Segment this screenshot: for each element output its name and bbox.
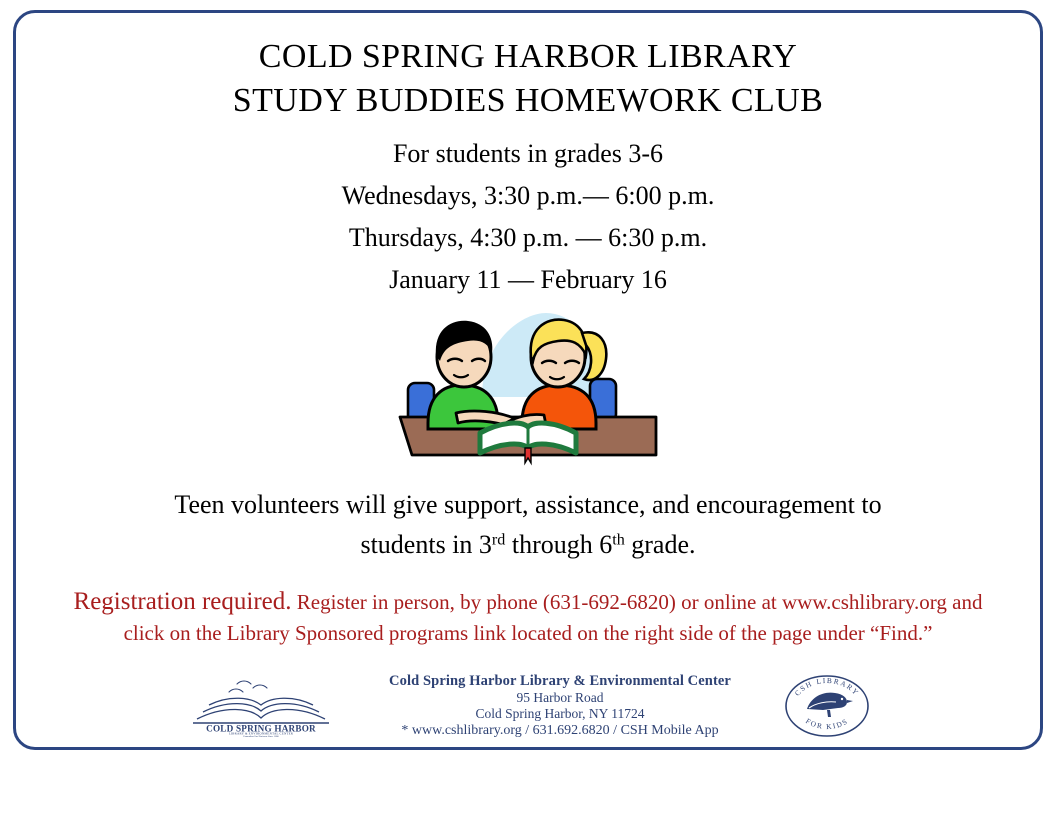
- description-line-2-post: grade.: [625, 530, 696, 559]
- footer-address-line-2: Cold Spring Harbor, NY 11724: [345, 706, 775, 722]
- schedule-block: For students in grades 3-6 Wednesdays, 3…: [16, 133, 1040, 301]
- ordinal-suffix-th: th: [612, 532, 625, 549]
- description-line-2: students in 3rd through 6th grade.: [16, 525, 1040, 565]
- ordinal-suffix-rd: rd: [492, 532, 505, 549]
- csh-library-for-kids-seal: CSH LIBRARY FOR KIDS: [783, 673, 871, 739]
- flyer-content: COLD SPRING HARBOR LIBRARY STUDY BUDDIES…: [16, 13, 1040, 747]
- schedule-line-thursdays: Thursdays, 4:30 p.m. — 6:30 p.m.: [16, 217, 1040, 259]
- description-line-1: Teen volunteers will give support, assis…: [16, 485, 1040, 525]
- footer-address-line-1: 95 Harbor Road: [345, 690, 775, 706]
- footer-org-name: Cold Spring Harbor Library & Environment…: [345, 673, 775, 690]
- footer: COLD SPRING HARBOR LIBRARY & ENVIRONMENT…: [16, 671, 1040, 741]
- schedule-line-dates: January 11 — February 16: [16, 259, 1040, 301]
- description-line-2-pre: students in 3: [360, 530, 491, 559]
- logo-tagline: Expanding Our Horizons Since 1880: [243, 735, 279, 737]
- registration-paragraph: Registration required. Register in perso…: [68, 586, 988, 649]
- registration-block: Registration required. Register in perso…: [16, 586, 1040, 649]
- seagull-icon: [807, 693, 853, 717]
- footer-contact-line: * www.cshlibrary.org / 631.692.6820 / CS…: [345, 722, 775, 739]
- seal-bottom-text: FOR KIDS: [804, 716, 850, 731]
- two-students-reading-book-clipart: [394, 305, 662, 467]
- description-block: Teen volunteers will give support, assis…: [16, 485, 1040, 565]
- title-line-2: STUDY BUDDIES HOMEWORK CLUB: [16, 79, 1040, 123]
- description-line-2-mid: through 6: [505, 530, 612, 559]
- page-title: COLD SPRING HARBOR LIBRARY STUDY BUDDIES…: [16, 13, 1040, 123]
- cold-spring-harbor-library-logo: COLD SPRING HARBOR LIBRARY & ENVIRONMENT…: [185, 675, 337, 737]
- flyer-border-frame: COLD SPRING HARBOR LIBRARY STUDY BUDDIES…: [13, 10, 1043, 750]
- schedule-line-wednesdays: Wednesdays, 3:30 p.m.— 6:00 p.m.: [16, 175, 1040, 217]
- footer-address-block: Cold Spring Harbor Library & Environment…: [345, 673, 775, 739]
- registration-required-label: Registration required.: [74, 588, 292, 615]
- title-line-1: COLD SPRING HARBOR LIBRARY: [16, 35, 1040, 79]
- schedule-line-grades: For students in grades 3-6: [16, 133, 1040, 175]
- illustration-container: [16, 305, 1040, 467]
